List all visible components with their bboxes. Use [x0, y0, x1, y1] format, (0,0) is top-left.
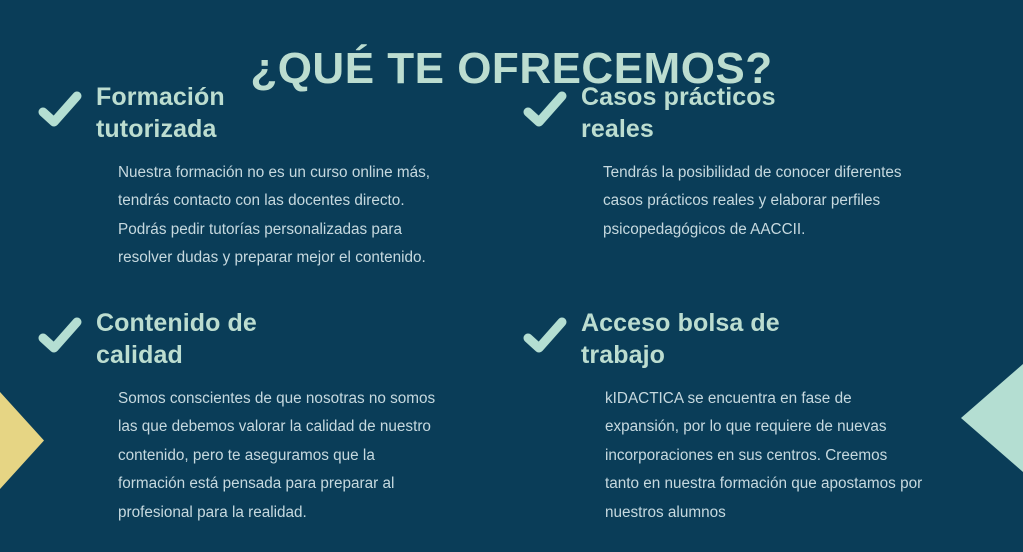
slide-root: { "title": "¿QUÉ TE OFRECEMOS?", "colors… — [0, 0, 1023, 552]
benefit-body: kIDACTICA se encuentra en fase de expans… — [605, 385, 925, 527]
benefit-item-acceso-bolsa-de-trabajo: Acceso bolsa de trabajo kIDACTICA se enc… — [523, 306, 993, 542]
benefit-item-formacion-tutorizada: Formación tutorizada Nuestra formación n… — [38, 80, 508, 288]
benefit-body: Nuestra formación no es un curso online … — [118, 159, 438, 273]
benefit-title: Casos prácticos reales — [581, 80, 831, 145]
benefit-title: Formación tutorizada — [96, 80, 346, 145]
benefit-item-contenido-de-calidad: Contenido de calidad Somos conscientes d… — [38, 306, 508, 542]
benefit-header: Acceso bolsa de trabajo — [523, 306, 993, 371]
check-icon — [38, 88, 82, 132]
benefit-title: Contenido de calidad — [96, 306, 346, 371]
benefit-title: Acceso bolsa de trabajo — [581, 306, 831, 371]
benefit-body: Tendrás la posibilidad de conocer difere… — [603, 159, 923, 244]
check-icon — [523, 314, 567, 358]
check-icon — [38, 314, 82, 358]
benefits-grid: Formación tutorizada Nuestra formación n… — [0, 80, 1023, 543]
benefit-item-casos-practicos-reales: Casos prácticos reales Tendrás la posibi… — [523, 80, 993, 288]
benefit-header: Casos prácticos reales — [523, 80, 993, 145]
benefit-header: Formación tutorizada — [38, 80, 508, 145]
benefit-header: Contenido de calidad — [38, 306, 508, 371]
check-icon — [523, 88, 567, 132]
benefit-body: Somos conscientes de que nosotras no som… — [118, 385, 438, 527]
